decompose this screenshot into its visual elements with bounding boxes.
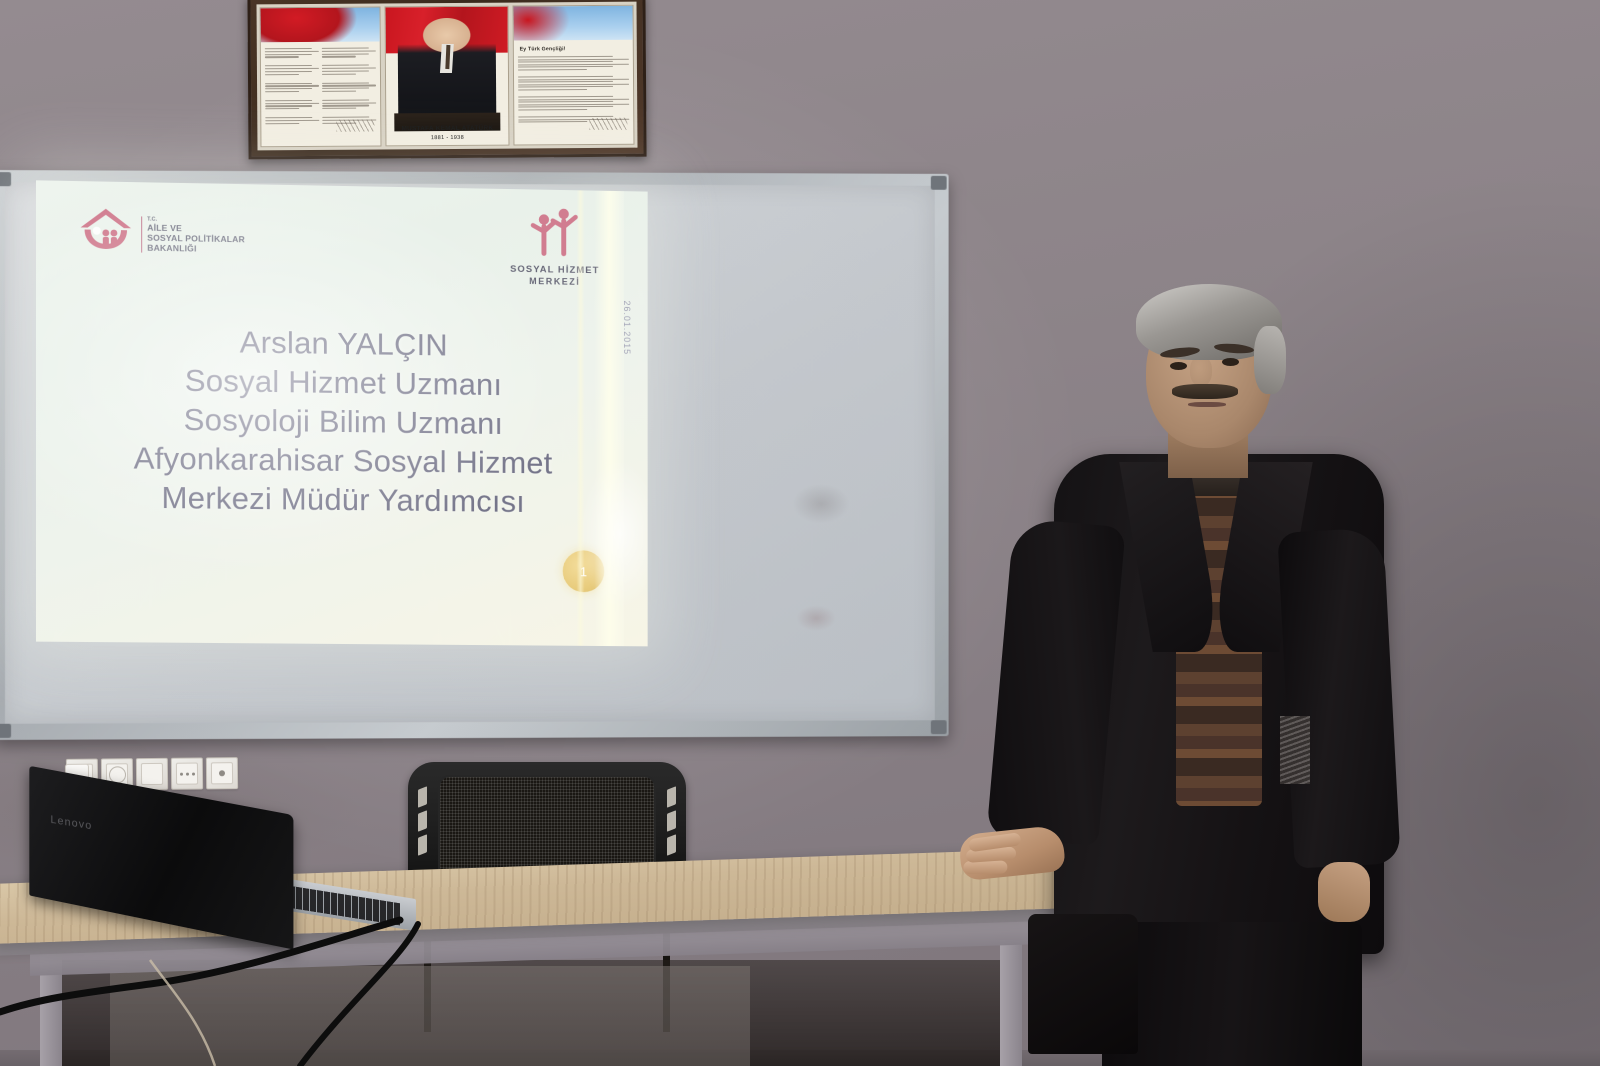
ataturk-triptych-frame: MUSTAFA KEMAL ATATÜRK 1881 - 1938 Ey Tür… (247, 0, 646, 159)
whiteboard-corner-cap (0, 172, 11, 186)
moustache (1172, 384, 1238, 399)
trousers (1102, 922, 1362, 1066)
portrait-years: 1881 - 1938 (431, 135, 464, 141)
ataturk-portrait-image (398, 11, 496, 122)
left-arm (1277, 527, 1400, 868)
slide-line-5: Merkezi Müdür Yardımcısı (36, 477, 648, 523)
hitabe-signature (589, 118, 627, 130)
eye-right (1222, 358, 1239, 366)
ministry-logo: T.C. AİLE VE SOSYAL POLİTİKALAR BAKANLIĞ… (77, 205, 245, 254)
ministry-line1: AİLE VE (147, 223, 182, 234)
laptop-brand-label: Lenovo (50, 814, 92, 832)
presenter (1018, 286, 1438, 1066)
projected-slide: T.C. AİLE VE SOSYAL POLİTİKALAR BAKANLIĞ… (36, 180, 648, 646)
data-port (171, 757, 203, 789)
blank-plate (136, 758, 168, 790)
whiteboard-corner-cap (0, 724, 11, 738)
portrait-name: MUSTAFA KEMAL ATATÜRK (401, 124, 493, 132)
mouth (1188, 402, 1226, 407)
frame-signature-mark (337, 120, 375, 132)
ministry-line3: BAKANLIĞI (147, 243, 196, 254)
genclige-hitabe-panel: Ey Türk Gençliği! (512, 5, 634, 146)
left-hand (1318, 862, 1370, 922)
dark-bag (1028, 914, 1138, 1054)
hitabe-title: Ey Türk Gençliği! (520, 46, 566, 52)
portrait-caption: MUSTAFA KEMAL ATATÜRK 1881 - 1938 (387, 123, 509, 143)
whiteboard-corner-cap (931, 176, 947, 190)
ministry-logo-text: T.C. AİLE VE SOSYAL POLİTİKALAR BAKANLIĞ… (141, 216, 245, 254)
eye-left (1170, 362, 1187, 370)
nose (1190, 356, 1212, 386)
photo-scene: MUSTAFA KEMAL ATATÜRK 1881 - 1938 Ey Tür… (0, 0, 1600, 1066)
shirt-gap (1280, 716, 1310, 784)
shm-line2: MERKEZİ (529, 276, 580, 287)
istiklal-marsi-panel (260, 6, 382, 147)
laptop-cables (0, 900, 460, 1066)
ataturk-portrait-panel: MUSTAFA KEMAL ATATÜRK 1881 - 1938 (385, 6, 510, 147)
family-house-icon (77, 205, 136, 252)
slide-title-block: Arslan YALÇIN Sosyal Hizmet Uzmanı Sosyo… (36, 319, 648, 522)
shm-line1: SOSYAL HİZMET (510, 264, 599, 276)
data-port (206, 757, 238, 789)
whiteboard-corner-cap (931, 720, 947, 734)
grey-hair-side (1254, 326, 1286, 394)
